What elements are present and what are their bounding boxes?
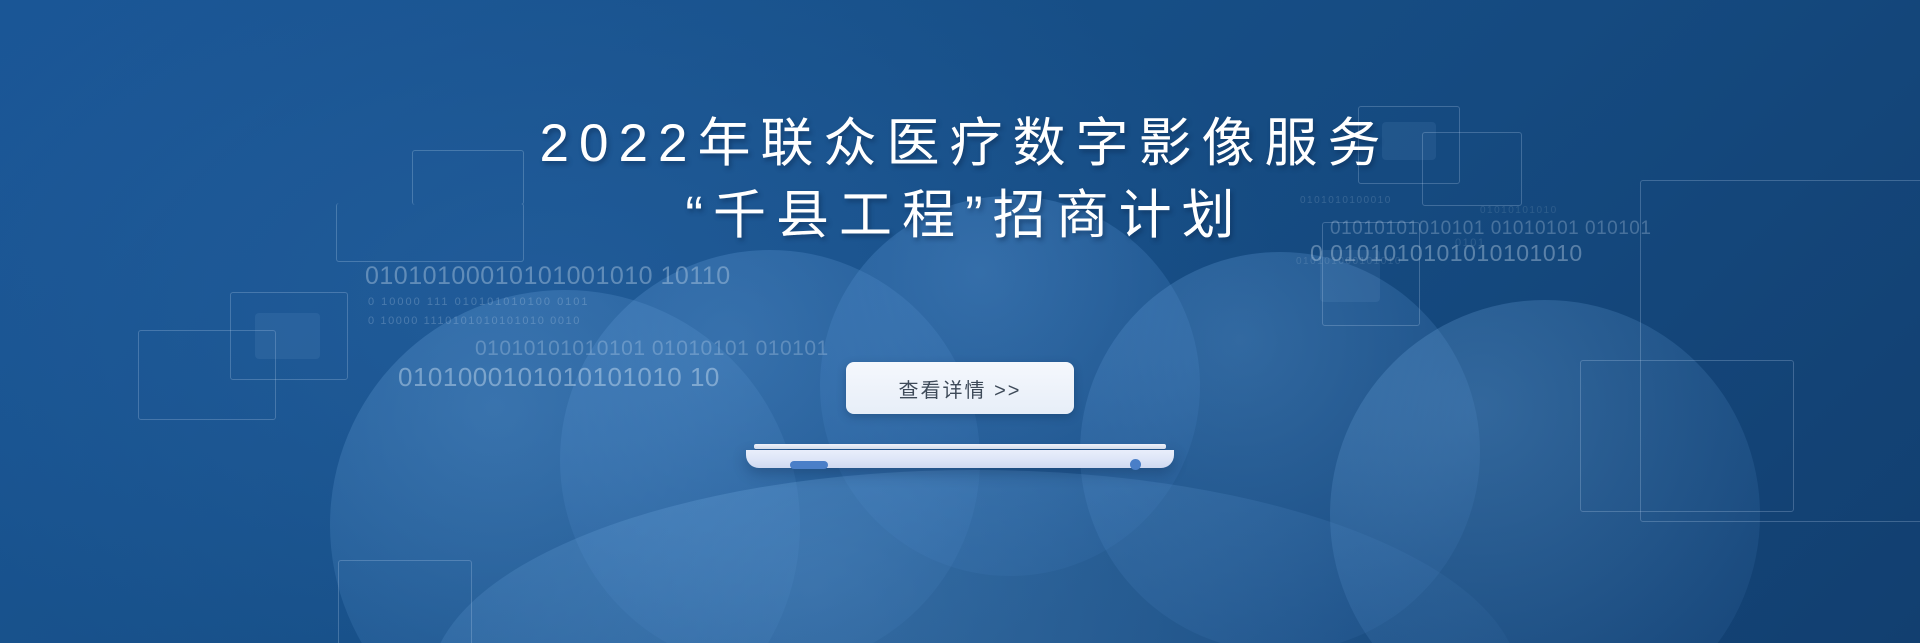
binary-code-line-2: 0 10000 111 010101010100 0101 bbox=[368, 296, 590, 308]
view-details-button[interactable]: 查看详情 >> bbox=[846, 362, 1074, 414]
view-details-label: 查看详情 >> bbox=[899, 374, 1022, 403]
banner-headline: 2022年联众医疗数字影像服务 “千县工程”招商计划 bbox=[0, 108, 1920, 252]
headline-line-2: “千县工程”招商计划 bbox=[0, 180, 1920, 252]
laptop-illustration bbox=[746, 444, 1174, 474]
headline-line-1: 2022年联众医疗数字影像服务 bbox=[0, 108, 1920, 180]
binary-code-line-4: 01010101010101 01010101 010101 bbox=[475, 337, 829, 361]
binary-code-line-9: 010101000101010 bbox=[1296, 256, 1402, 267]
binary-code-line-5: 0101000101010101010 10 bbox=[398, 362, 720, 393]
laptop-lid-edge bbox=[754, 444, 1166, 449]
binary-code-line-3: 0 10000 1110101010101010 0010 bbox=[368, 315, 581, 327]
decor-rect-left-bottom bbox=[338, 560, 472, 643]
decor-rect-left-solid bbox=[255, 313, 320, 359]
laptop-deck bbox=[746, 450, 1174, 468]
decor-rect-far-right-low bbox=[1580, 360, 1794, 512]
laptop-touchpad-icon bbox=[790, 461, 828, 469]
binary-code-line-1: 01010100010101001010 10110 bbox=[365, 262, 731, 291]
laptop-indicator-dot-icon bbox=[1130, 459, 1141, 470]
promo-banner: 01010100010101001010 10110 0 10000 111 0… bbox=[0, 0, 1920, 643]
